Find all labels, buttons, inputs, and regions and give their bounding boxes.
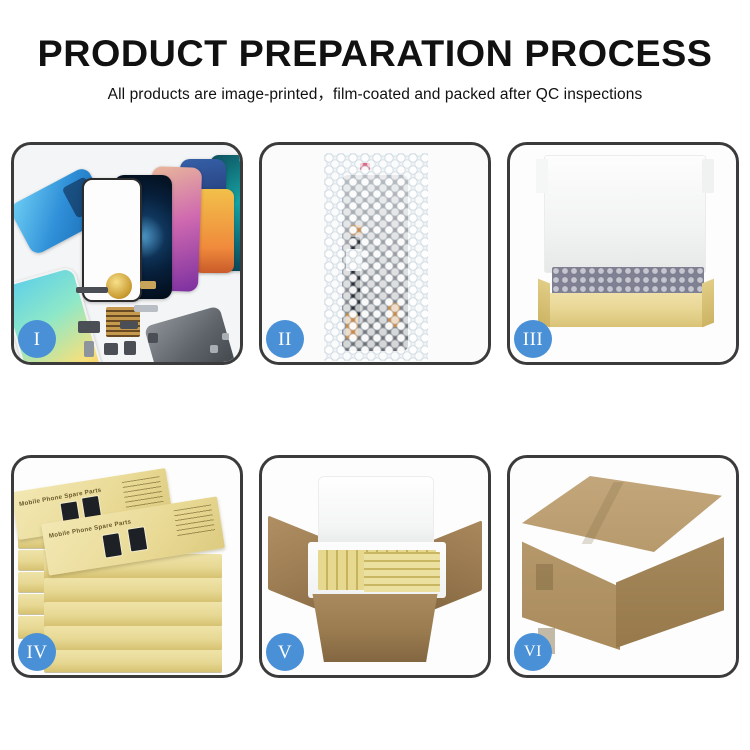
step-image-3: III bbox=[510, 145, 736, 362]
foam-liner bbox=[308, 542, 446, 598]
spare-part bbox=[148, 333, 158, 343]
step-badge-3: III bbox=[514, 320, 552, 358]
spare-part bbox=[104, 343, 118, 355]
carton-body bbox=[304, 594, 446, 662]
spare-part bbox=[210, 345, 218, 353]
step-image-1: I bbox=[14, 145, 240, 362]
box-spec-lines bbox=[173, 504, 215, 538]
spare-part bbox=[78, 321, 100, 333]
step-badge-1: I bbox=[18, 320, 56, 358]
bubble-texture-overlay bbox=[324, 153, 428, 361]
spare-part bbox=[120, 321, 138, 329]
spare-box bbox=[44, 578, 222, 602]
kraft-tray bbox=[546, 293, 706, 327]
step-badge-5: V bbox=[266, 633, 304, 671]
gold-coil-part bbox=[106, 273, 132, 299]
step-panel-1: I bbox=[11, 142, 243, 365]
step-panel-2: II bbox=[259, 142, 491, 365]
step-image-6: VI bbox=[510, 458, 736, 675]
step-panel-3: III bbox=[507, 142, 739, 365]
process-step-grid: I II bbox=[11, 142, 739, 678]
step-image-5: V bbox=[262, 458, 488, 675]
spare-box bbox=[44, 626, 222, 650]
spare-part bbox=[124, 341, 136, 355]
page-title: PRODUCT PREPARATION PROCESS bbox=[0, 34, 750, 74]
page-header: PRODUCT PREPARATION PROCESS All products… bbox=[0, 34, 750, 104]
carton-top-face bbox=[522, 476, 722, 552]
spare-part bbox=[134, 305, 158, 312]
spare-part bbox=[84, 341, 94, 357]
yellow-boxes-row bbox=[364, 552, 440, 592]
spare-part bbox=[140, 281, 156, 289]
step-badge-4: IV bbox=[18, 633, 56, 671]
step-image-4: Mobile Phone Spare Parts Mobile Phone Sp… bbox=[14, 458, 240, 675]
step-badge-6: VI bbox=[514, 633, 552, 671]
step-image-2: II bbox=[262, 145, 488, 362]
page-subtitle: All products are image-printed，film-coat… bbox=[0, 82, 750, 104]
foam-lid bbox=[318, 476, 434, 548]
step-panel-6: VI bbox=[507, 455, 739, 678]
step-panel-4: Mobile Phone Spare Parts Mobile Phone Sp… bbox=[11, 455, 243, 678]
box-artwork bbox=[127, 526, 149, 553]
foam-sheet bbox=[544, 155, 706, 273]
spare-part bbox=[76, 287, 108, 293]
spare-part bbox=[222, 333, 229, 340]
grey-bubble-wrap bbox=[552, 267, 704, 295]
spare-box bbox=[44, 602, 222, 626]
product-preparation-page: PRODUCT PREPARATION PROCESS All products… bbox=[0, 0, 750, 750]
spare-box bbox=[44, 650, 222, 672]
step-panel-5: V bbox=[259, 455, 491, 678]
step-badge-2: II bbox=[266, 320, 304, 358]
box-artwork bbox=[101, 532, 123, 559]
bubble-wrap-bag bbox=[324, 153, 428, 361]
carton-tape bbox=[536, 564, 553, 590]
